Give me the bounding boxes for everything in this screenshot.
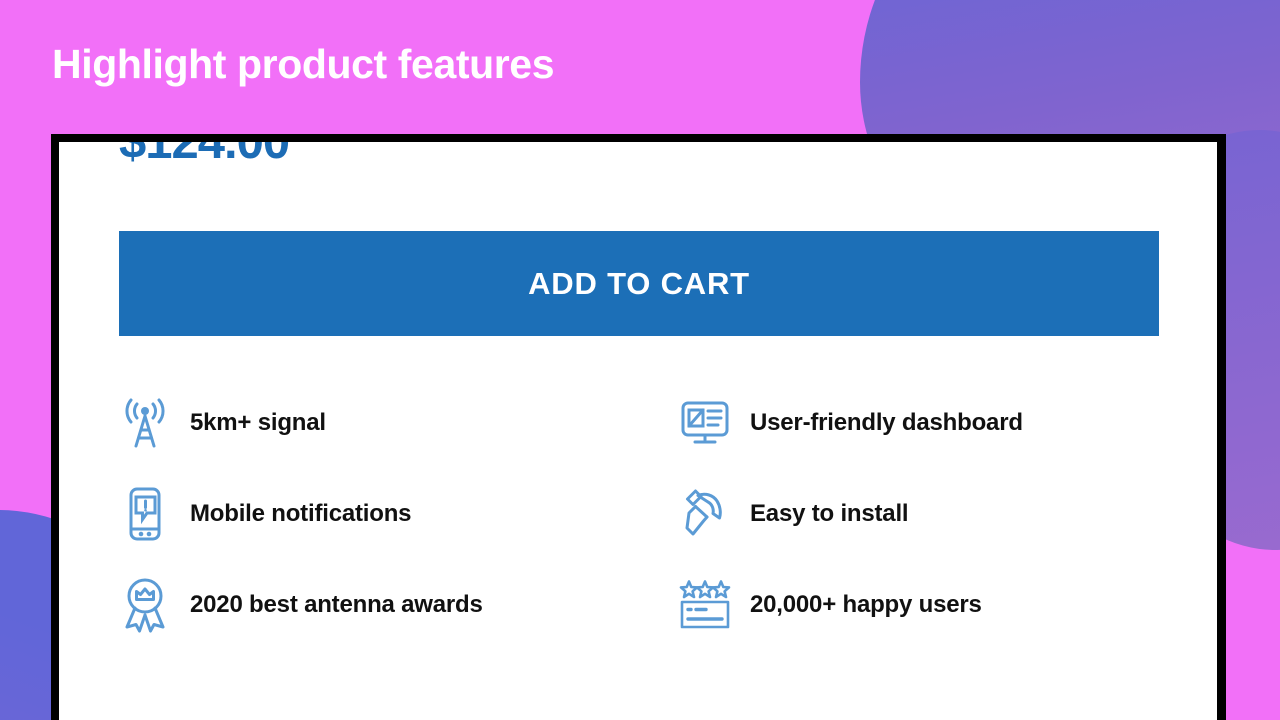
signal-tower-icon: [119, 394, 171, 452]
add-to-cart-button[interactable]: ADD TO CART: [119, 231, 1159, 336]
feature-label: User-friendly dashboard: [750, 409, 1023, 437]
feature-list: 5km+ signal User-friendly: [119, 377, 1159, 650]
feature-item: User-friendly dashboard: [679, 394, 1159, 452]
feature-item: 20,000+ happy users: [679, 576, 1159, 634]
feature-item: Mobile notifications: [119, 485, 679, 543]
product-card-frame: $124.00 ADD TO CART: [51, 134, 1226, 720]
feature-item: 5km+ signal: [119, 394, 679, 452]
monitor-dashboard-icon: [679, 394, 731, 452]
hammer-icon: [679, 485, 731, 543]
page-title: Highlight product features: [52, 42, 554, 87]
phone-alert-icon: [119, 485, 171, 543]
feature-item: Easy to install: [679, 485, 1159, 543]
feature-label: Mobile notifications: [190, 500, 411, 528]
product-card: $124.00 ADD TO CART: [59, 142, 1217, 720]
award-medal-icon: [119, 576, 171, 634]
feature-label: 2020 best antenna awards: [190, 591, 483, 619]
feature-label: Easy to install: [750, 500, 908, 528]
feature-label: 20,000+ happy users: [750, 591, 982, 619]
feature-label: 5km+ signal: [190, 409, 326, 437]
product-price: $124.00: [119, 142, 289, 170]
feature-item: 2020 best antenna awards: [119, 576, 679, 634]
star-review-icon: [679, 576, 731, 634]
